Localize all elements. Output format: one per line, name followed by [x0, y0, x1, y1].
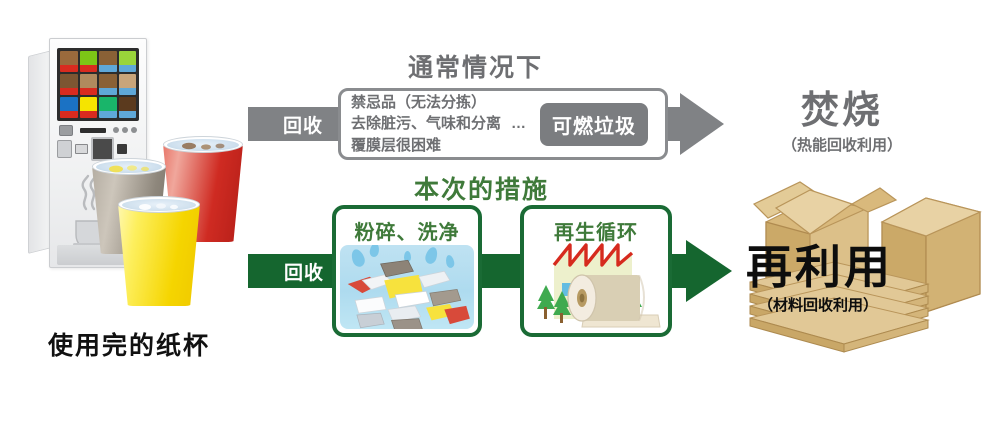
bottom-collect-label: 回收 — [284, 258, 324, 285]
step-crush-wash-box: 粉碎、洗净 — [332, 205, 482, 337]
issue-line-3: 覆膜层很困难 — [351, 135, 528, 156]
incineration-subtitle: （热能回收利用） — [757, 134, 927, 155]
vending-product-button[interactable] — [119, 51, 137, 72]
vending-product-button[interactable] — [99, 51, 117, 72]
page-title-top: 通常情况下 — [408, 48, 543, 84]
vending-product-button[interactable] — [80, 74, 98, 95]
top-collect-label: 回收 — [283, 111, 323, 138]
top-result-label: 焚烧 （热能回收利用） — [757, 92, 927, 155]
issue-line-1: 禁忌品（无法分拣） — [351, 92, 528, 113]
coin-slot-icon — [59, 125, 73, 136]
shredded-paper-in-water-icon — [340, 245, 474, 329]
page-title-bottom: 本次的措施 — [414, 170, 549, 206]
vending-product-button[interactable] — [119, 97, 137, 118]
paper-cup-yellow-icon — [118, 196, 200, 306]
vending-product-button[interactable] — [119, 74, 137, 95]
issue-line-2: 去除脏污、气味和分离 — [351, 113, 501, 134]
vending-product-button[interactable] — [60, 74, 78, 95]
cash-box-icon — [57, 140, 72, 158]
arrow-right-green-icon — [686, 240, 732, 302]
step-regeneration-box: 再生循环 — [520, 205, 672, 337]
top-issues-list: 禁忌品（无法分拣） 去除脏污、气味和分离 … 覆膜层很困难 — [351, 92, 528, 156]
vending-machine-dispenser-row — [57, 138, 139, 160]
reuse-title: 再利用 — [746, 244, 893, 290]
ellipsis-label: … — [511, 113, 528, 134]
step-crush-wash-title: 粉碎、洗净 — [336, 216, 478, 245]
used-paper-cups-caption: 使用完的纸杯 — [48, 326, 210, 362]
vending-product-button[interactable] — [60, 51, 78, 72]
card-reader-icon — [75, 144, 88, 154]
bill-slot-icon — [80, 128, 106, 133]
vending-machine-product-panel — [57, 48, 139, 121]
arrow-right-gray-icon — [680, 93, 724, 155]
vending-product-button[interactable] — [99, 74, 117, 95]
vending-machine-coin-row — [57, 124, 139, 136]
vending-product-button[interactable] — [80, 51, 98, 72]
reuse-subtitle: （材料回收利用） — [758, 294, 893, 315]
return-lever-icon — [117, 144, 127, 154]
recycling-flow-diagram: 通常情况下 回收 禁忌品（无法分拣） 去除脏污、气味和分离 … 覆膜层很困难 可… — [0, 0, 1000, 425]
vending-product-button[interactable] — [60, 97, 78, 118]
vending-product-button[interactable] — [80, 97, 98, 118]
step-regeneration-title: 再生循环 — [524, 216, 668, 245]
top-issues-box: 禁忌品（无法分拣） 去除脏污、气味和分离 … 覆膜层很困难 可燃垃圾 — [338, 88, 668, 160]
incineration-title: 焚烧 — [757, 92, 927, 130]
bottom-result-label: 再利用 （材料回收利用） — [746, 244, 893, 315]
indicator-lights — [113, 127, 137, 133]
combustible-waste-badge: 可燃垃圾 — [540, 103, 648, 146]
vending-product-button[interactable] — [99, 97, 117, 118]
vending-machine-side-panel — [28, 50, 51, 254]
